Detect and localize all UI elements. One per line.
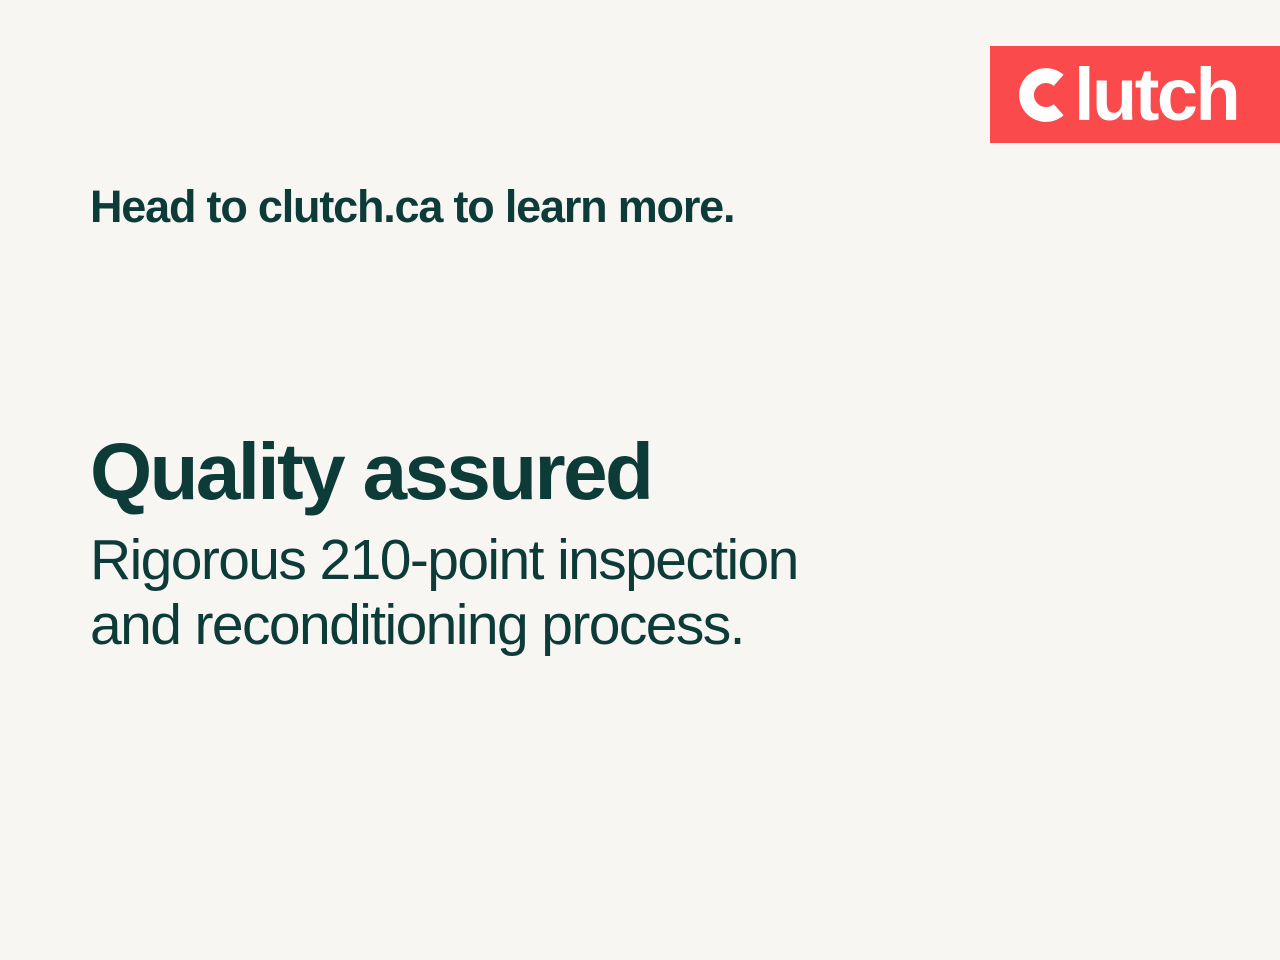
kicker-text: Head to clutch.ca to learn more. (90, 182, 734, 232)
subline-line-1: Rigorous 210-point inspection (90, 528, 1090, 593)
clutch-logo-block[interactable]: lutch (990, 46, 1280, 143)
subline-line-2: and reconditioning process. (90, 593, 1090, 658)
message-block: Quality assured Rigorous 210-point inspe… (90, 432, 1090, 658)
slide-canvas: lutch Head to clutch.ca to learn more. Q… (0, 0, 1280, 960)
subline: Rigorous 210-point inspection and recond… (90, 528, 1090, 658)
headline: Quality assured (90, 432, 1090, 512)
clutch-c-wheel-icon (1018, 67, 1074, 123)
clutch-wordmark-text: lutch (1074, 68, 1238, 121)
clutch-wordmark: lutch (1018, 64, 1238, 126)
